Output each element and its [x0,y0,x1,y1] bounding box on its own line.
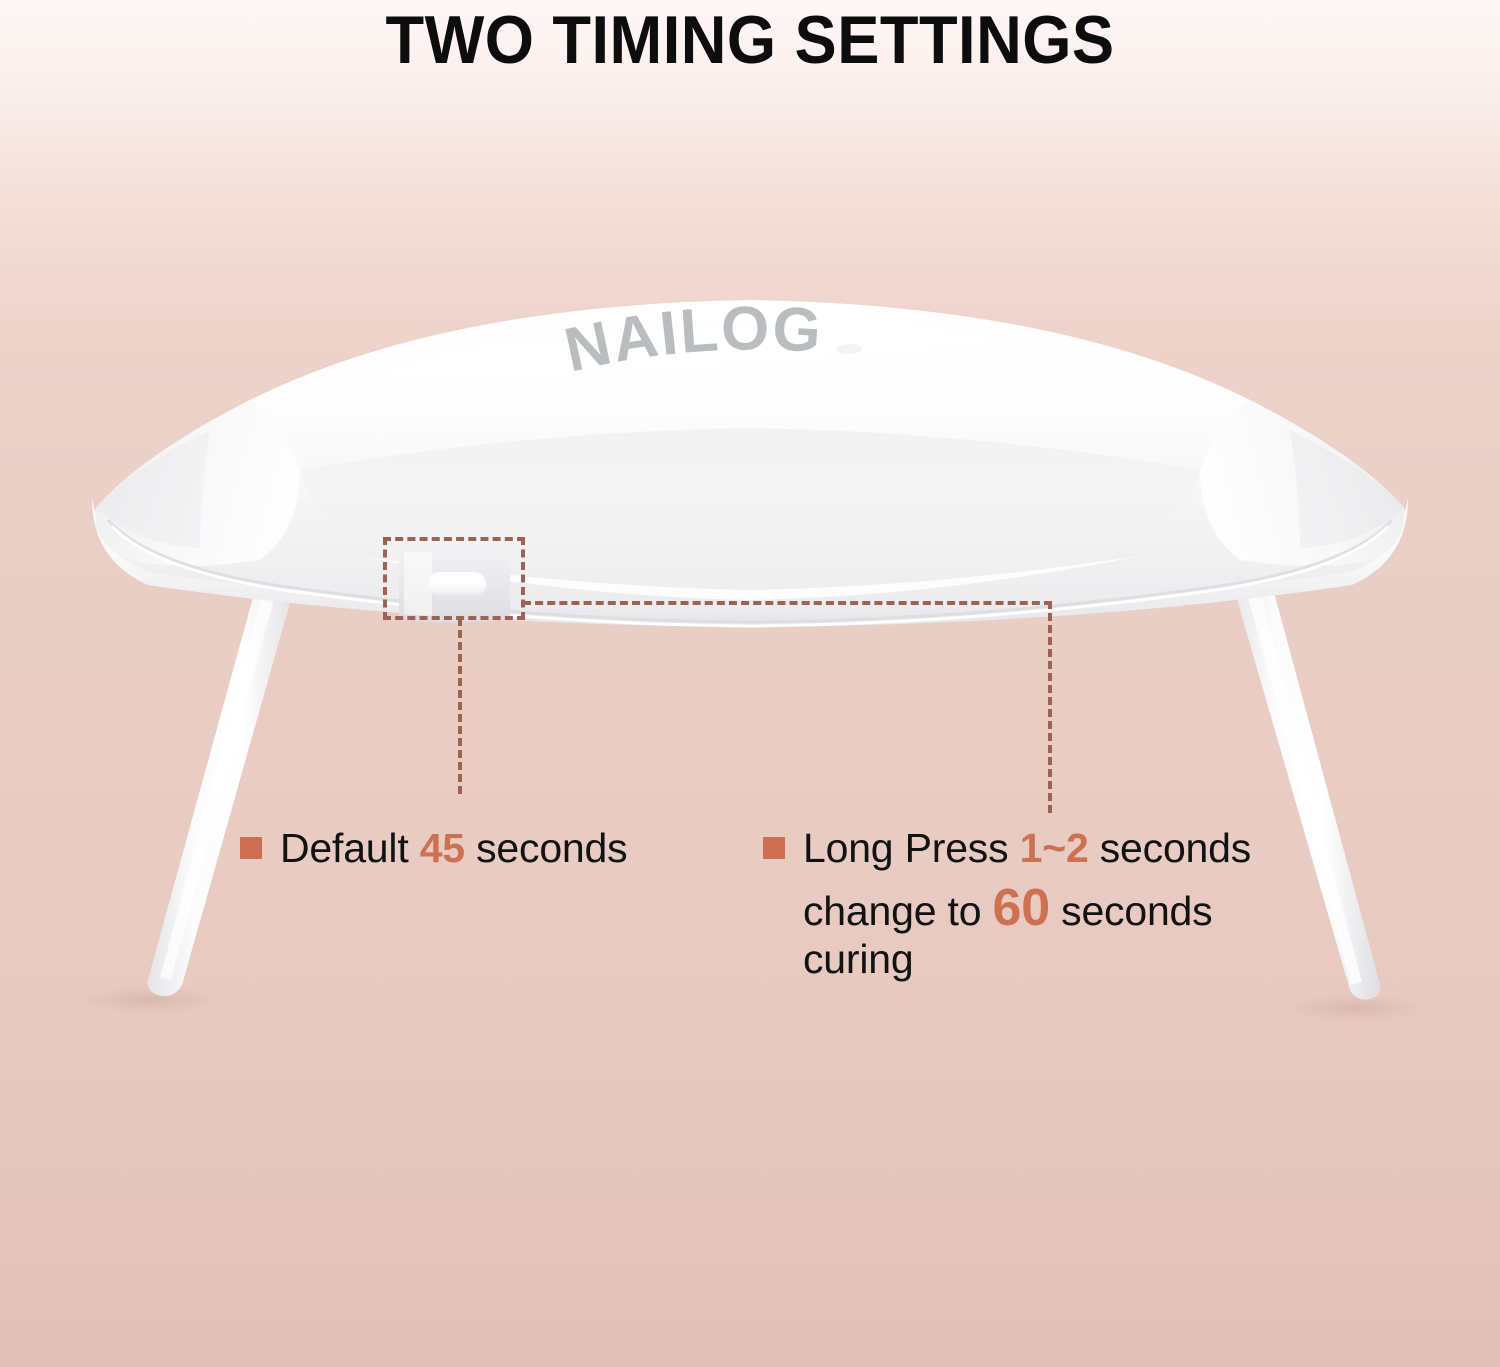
longpress-prefix: Long Press [803,825,1020,871]
bullet-square-icon [763,837,785,859]
longpress-value: 1~2 [1020,825,1089,871]
callout-default-timing: Default 45 seconds [240,821,627,875]
svg-text:NAILOG: NAILOG [559,294,825,385]
nail-lamp-device-image: NAILOG [0,0,1500,1367]
leader-line-default [458,618,462,794]
change-prefix: change to [803,888,993,934]
longpress-line-3: curing [803,932,1303,986]
leader-line-longpress-horizontal [523,601,1052,605]
default-suffix: seconds [465,825,628,871]
brand-logo: NAILOG [559,294,940,385]
product-infographic: TWO TIMING SETTINGS [0,0,1500,1367]
leader-line-longpress-vertical [1048,601,1052,813]
callout-default-text: Default 45 seconds [280,821,627,875]
longpress-suffix: seconds [1089,825,1252,871]
bullet-square-icon [240,837,262,859]
callout-longpress-timing: Long Press 1~2 seconds change to 60 seco… [763,821,1323,986]
default-prefix: Default [280,825,420,871]
change-suffix: seconds [1050,888,1213,934]
page-title: TWO TIMING SETTINGS [53,0,1448,82]
power-button-highlight-box [383,537,525,620]
device-leg-left [147,565,300,996]
default-value: 45 [420,825,465,871]
device-shell [92,300,1408,627]
longpress-line-1: Long Press 1~2 seconds [803,825,1251,871]
longpress-line-2: change to 60 seconds [803,881,1303,938]
callout-longpress-text: Long Press 1~2 seconds change to 60 seco… [803,821,1303,986]
change-value: 60 [993,879,1050,937]
